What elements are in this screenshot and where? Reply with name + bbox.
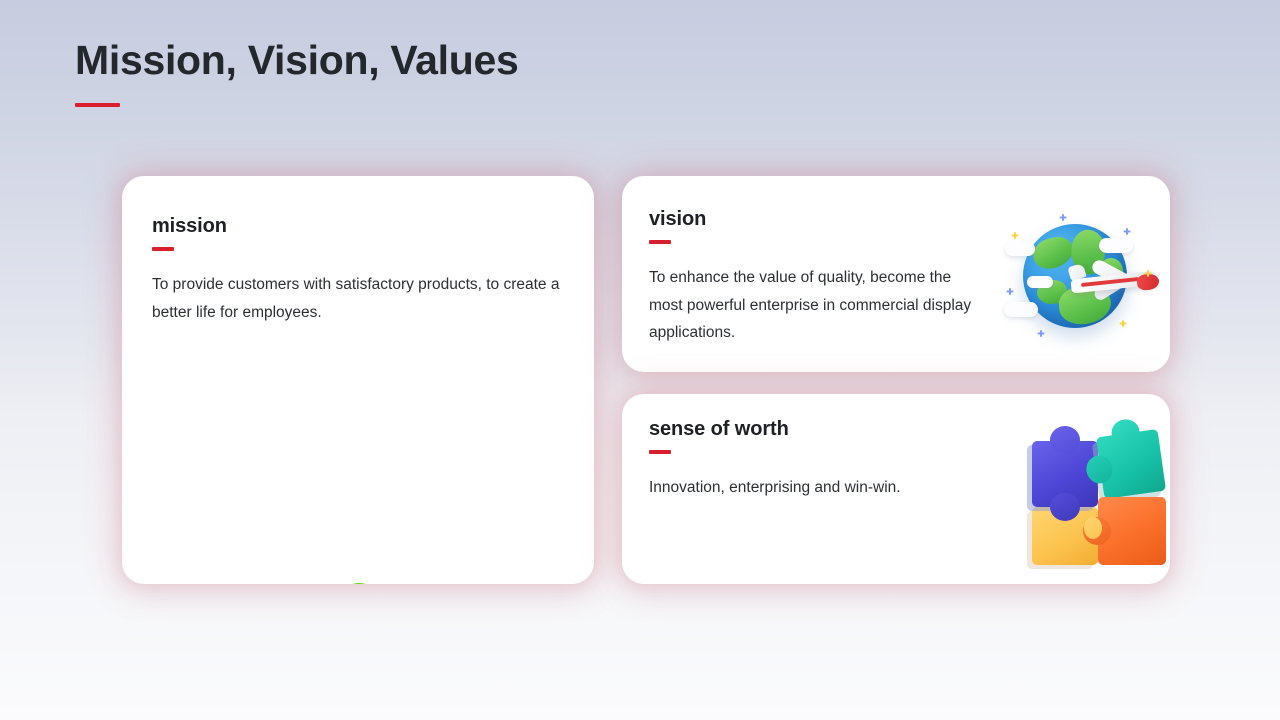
puzzle-pieces-illustration — [1018, 425, 1158, 555]
handshake-right-cuff — [503, 580, 594, 584]
sparkle-icon — [1011, 232, 1018, 239]
vision-accent-rule — [649, 240, 671, 244]
sparkle-icon — [1144, 270, 1151, 277]
vision-text-block: vision To enhance the value of quality, … — [649, 208, 989, 347]
page-title-block: Mission, Vision, Values — [75, 38, 519, 107]
vision-heading: vision — [649, 208, 989, 231]
handshake-illustration — [312, 574, 594, 584]
sparkle-icon — [1123, 228, 1130, 235]
mission-body: To provide customers with satisfactory p… — [152, 271, 572, 326]
mission-heading: mission — [152, 215, 572, 238]
cloud-icon — [1004, 302, 1038, 317]
cloud-icon — [1099, 238, 1133, 253]
puzzle-notch — [1084, 517, 1102, 539]
worth-body: Innovation, enterprising and win-win. — [649, 474, 989, 502]
card-mission[interactable]: mission To provide customers with satisf… — [122, 176, 594, 584]
globe-airplane-illustration — [1003, 214, 1163, 344]
sparkle-icon — [1119, 320, 1126, 327]
cloud-icon — [1005, 242, 1035, 256]
puzzle-piece-orange — [1098, 497, 1166, 565]
page-title: Mission, Vision, Values — [75, 38, 519, 83]
sparkle-icon — [1059, 214, 1066, 221]
card-vision[interactable]: vision To enhance the value of quality, … — [622, 176, 1170, 372]
puzzle-piece-teal — [1096, 429, 1166, 499]
cloud-icon — [1027, 276, 1053, 288]
vision-body: To enhance the value of quality, become … — [649, 264, 989, 347]
sparkle-icon — [1037, 330, 1044, 337]
mission-text-block: mission To provide customers with satisf… — [152, 215, 572, 326]
worth-text-block: sense of worth Innovation, enterprising … — [649, 418, 989, 502]
chat-bubble-icon — [337, 583, 381, 584]
worth-accent-rule — [649, 450, 671, 454]
worth-heading: sense of worth — [649, 418, 989, 441]
card-sense-of-worth[interactable]: sense of worth Innovation, enterprising … — [622, 394, 1170, 584]
mission-accent-rule — [152, 247, 174, 251]
title-accent-rule — [75, 103, 120, 107]
sparkle-icon — [1006, 288, 1013, 295]
